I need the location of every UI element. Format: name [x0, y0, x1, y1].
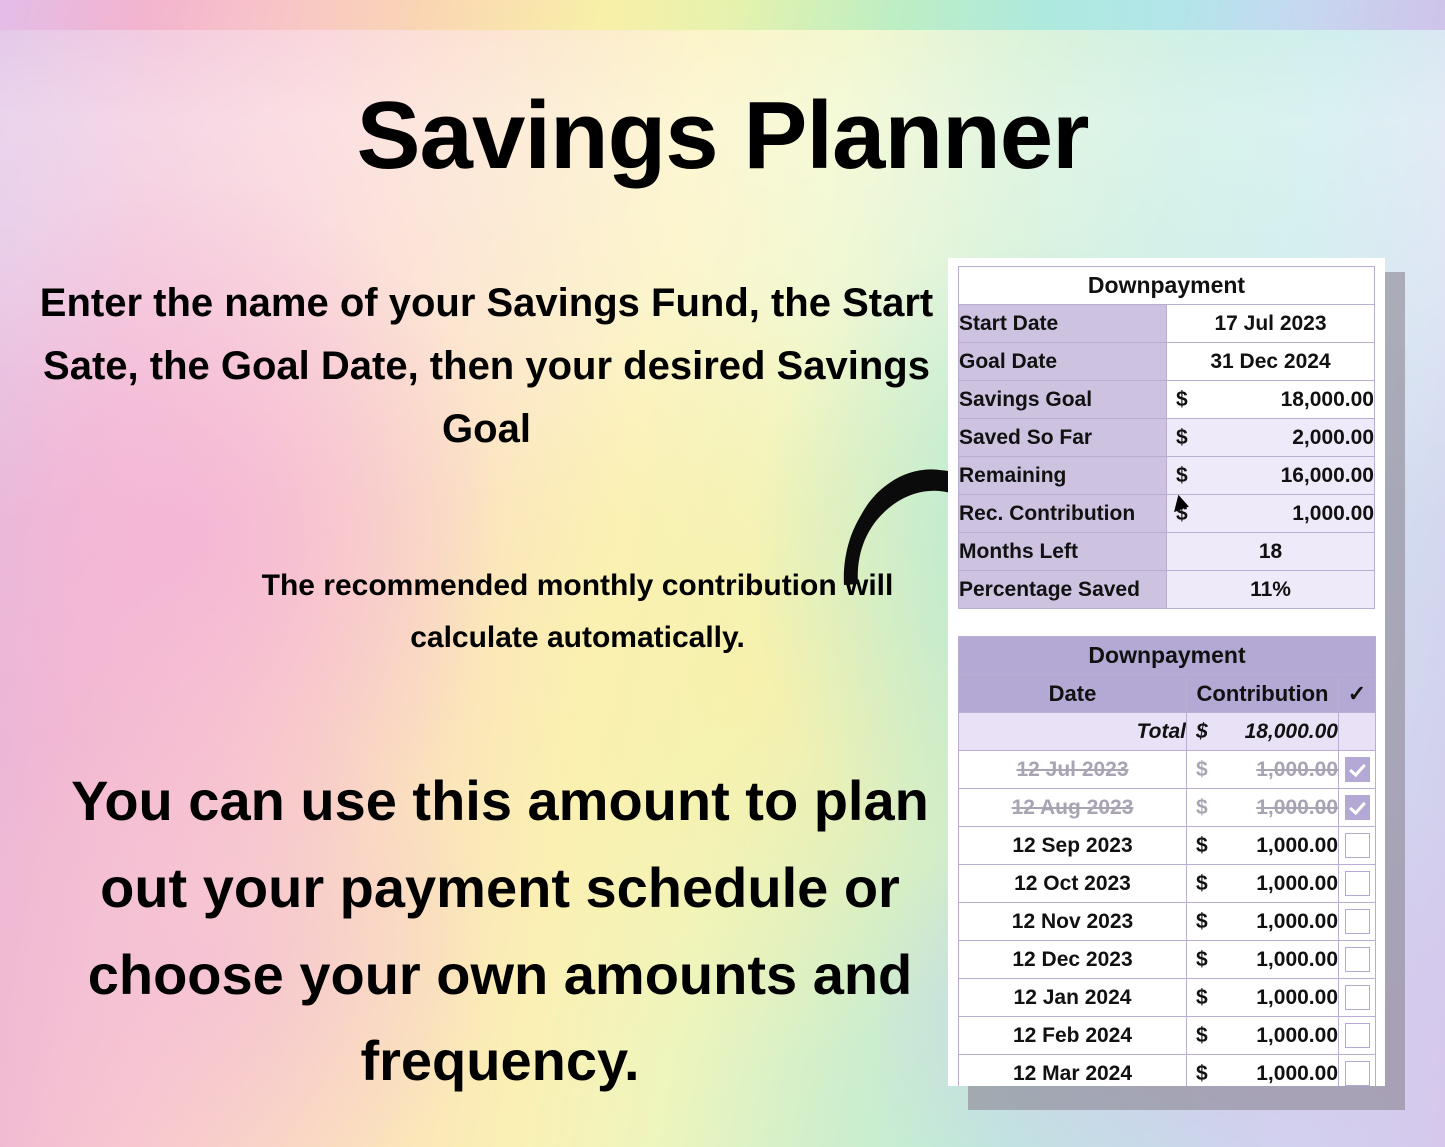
- column-header-contribution: Contribution: [1187, 675, 1339, 713]
- row-date[interactable]: 12 Mar 2024: [959, 1055, 1187, 1087]
- table-row: 12 Aug 2023 $1,000.00: [959, 789, 1376, 827]
- row-contribution-cell[interactable]: $1,000.00: [1187, 751, 1339, 789]
- fund-name-row: Downpayment: [959, 267, 1375, 305]
- row-amount: 1,000.00: [1256, 834, 1338, 857]
- currency-symbol: $: [1187, 1024, 1208, 1048]
- value-rec-contribution: 1,000.00: [1292, 502, 1374, 525]
- table-row: Goal Date 31 Dec 2024: [959, 343, 1375, 381]
- table-row: Percentage Saved 11%: [959, 571, 1375, 609]
- value-remaining-cell: $16,000.00: [1167, 457, 1375, 495]
- value-percentage-saved: 11%: [1167, 571, 1375, 609]
- table-row: Savings Goal $18,000.00: [959, 381, 1375, 419]
- row-date[interactable]: 12 Aug 2023: [959, 789, 1187, 827]
- checkbox-unchecked[interactable]: [1345, 1023, 1370, 1048]
- checkbox-unchecked[interactable]: [1345, 909, 1370, 934]
- checkbox-checked[interactable]: [1345, 757, 1370, 782]
- row-amount: 1,000.00: [1256, 1024, 1338, 1047]
- row-amount: 1,000.00: [1256, 1062, 1338, 1085]
- table-row: Rec. Contribution $1,000.00: [959, 495, 1375, 533]
- currency-symbol: $: [1187, 796, 1208, 820]
- spreadsheet-panel: Downpayment Start Date 17 Jul 2023 Goal …: [948, 258, 1385, 1086]
- table-row: Saved So Far $2,000.00: [959, 419, 1375, 457]
- instruction-text-plan-schedule: You can use this amount to plan out your…: [30, 758, 970, 1105]
- value-months-left: 18: [1167, 533, 1375, 571]
- value-saved-so-far-cell: $2,000.00: [1167, 419, 1375, 457]
- label-goal-date: Goal Date: [959, 343, 1167, 381]
- row-amount: 1,000.00: [1256, 910, 1338, 933]
- row-checkbox-cell[interactable]: [1339, 903, 1376, 941]
- total-value-cell: $18,000.00: [1187, 713, 1339, 751]
- value-start-date[interactable]: 17 Jul 2023: [1167, 305, 1375, 343]
- checkbox-unchecked[interactable]: [1345, 985, 1370, 1010]
- checkbox-unchecked[interactable]: [1345, 947, 1370, 972]
- row-checkbox-cell[interactable]: [1339, 789, 1376, 827]
- checkbox-unchecked[interactable]: [1345, 871, 1370, 896]
- schedule-header-row: Date Contribution ✓: [959, 675, 1376, 713]
- row-checkbox-cell[interactable]: [1339, 941, 1376, 979]
- row-date[interactable]: 12 Nov 2023: [959, 903, 1187, 941]
- fund-name-input[interactable]: Downpayment: [959, 267, 1375, 305]
- column-header-date: Date: [959, 675, 1187, 713]
- schedule-title-row: Downpayment: [959, 637, 1376, 675]
- value-savings-goal-cell[interactable]: $18,000.00: [1167, 381, 1375, 419]
- checkbox-checked[interactable]: [1345, 795, 1370, 820]
- row-contribution-cell[interactable]: $1,000.00: [1187, 1055, 1339, 1087]
- row-date[interactable]: 12 Feb 2024: [959, 1017, 1187, 1055]
- instruction-text-enter-fund-details: Enter the name of your Savings Fund, the…: [14, 272, 959, 462]
- table-row: Months Left 18: [959, 533, 1375, 571]
- label-rec-contribution: Rec. Contribution: [959, 495, 1167, 533]
- label-start-date: Start Date: [959, 305, 1167, 343]
- table-row: 12 Oct 2023 $1,000.00: [959, 865, 1376, 903]
- column-header-check-icon: ✓: [1339, 675, 1376, 713]
- row-checkbox-cell[interactable]: [1339, 751, 1376, 789]
- table-row: 12 Sep 2023 $1,000.00: [959, 827, 1376, 865]
- value-rec-contribution-cell: $1,000.00: [1167, 495, 1375, 533]
- contribution-schedule-table: Downpayment Date Contribution ✓ Total $1…: [958, 636, 1376, 1086]
- row-amount: 1,000.00: [1256, 758, 1338, 781]
- row-checkbox-cell[interactable]: [1339, 827, 1376, 865]
- row-contribution-cell[interactable]: $1,000.00: [1187, 865, 1339, 903]
- row-date[interactable]: 12 Jan 2024: [959, 979, 1187, 1017]
- page-title: Savings Planner: [0, 88, 1445, 184]
- table-row: Remaining $16,000.00: [959, 457, 1375, 495]
- checkbox-unchecked[interactable]: [1345, 1061, 1370, 1086]
- currency-symbol: $: [1187, 948, 1208, 972]
- value-remaining: 16,000.00: [1281, 464, 1374, 487]
- table-row: 12 Jul 2023 $1,000.00: [959, 751, 1376, 789]
- row-contribution-cell[interactable]: $1,000.00: [1187, 1017, 1339, 1055]
- currency-symbol: $: [1187, 910, 1208, 934]
- table-row: 12 Feb 2024 $1,000.00: [959, 1017, 1376, 1055]
- table-row: 12 Jan 2024 $1,000.00: [959, 979, 1376, 1017]
- row-date[interactable]: 12 Sep 2023: [959, 827, 1187, 865]
- value-saved-so-far: 2,000.00: [1292, 426, 1374, 449]
- currency-symbol: $: [1187, 872, 1208, 896]
- value-goal-date[interactable]: 31 Dec 2024: [1167, 343, 1375, 381]
- label-savings-goal: Savings Goal: [959, 381, 1167, 419]
- row-date[interactable]: 12 Oct 2023: [959, 865, 1187, 903]
- total-value: 18,000.00: [1245, 720, 1338, 743]
- currency-symbol: $: [1187, 758, 1208, 782]
- row-contribution-cell[interactable]: $1,000.00: [1187, 979, 1339, 1017]
- schedule-fund-name: Downpayment: [959, 637, 1376, 675]
- currency-symbol: $: [1187, 986, 1208, 1010]
- label-percentage-saved: Percentage Saved: [959, 571, 1167, 609]
- row-contribution-cell[interactable]: $1,000.00: [1187, 827, 1339, 865]
- table-row: Start Date 17 Jul 2023: [959, 305, 1375, 343]
- label-saved-so-far: Saved So Far: [959, 419, 1167, 457]
- row-checkbox-cell[interactable]: [1339, 865, 1376, 903]
- row-checkbox-cell[interactable]: [1339, 1017, 1376, 1055]
- checkbox-unchecked[interactable]: [1345, 833, 1370, 858]
- currency-symbol: $: [1167, 464, 1188, 488]
- table-row: 12 Mar 2024 $1,000.00: [959, 1055, 1376, 1087]
- savings-summary-table: Downpayment Start Date 17 Jul 2023 Goal …: [958, 266, 1375, 609]
- row-checkbox-cell[interactable]: [1339, 979, 1376, 1017]
- schedule-total-row: Total $18,000.00: [959, 713, 1376, 751]
- row-date[interactable]: 12 Jul 2023: [959, 751, 1187, 789]
- row-amount: 1,000.00: [1256, 796, 1338, 819]
- table-row: 12 Dec 2023 $1,000.00: [959, 941, 1376, 979]
- row-checkbox-cell[interactable]: [1339, 1055, 1376, 1087]
- currency-symbol: $: [1187, 720, 1208, 744]
- row-contribution-cell[interactable]: $1,000.00: [1187, 903, 1339, 941]
- background-top-rainbow-band: [0, 0, 1445, 30]
- label-remaining: Remaining: [959, 457, 1167, 495]
- table-row: 12 Nov 2023 $1,000.00: [959, 903, 1376, 941]
- total-label: Total: [959, 713, 1187, 751]
- label-months-left: Months Left: [959, 533, 1167, 571]
- row-amount: 1,000.00: [1256, 872, 1338, 895]
- row-amount: 1,000.00: [1256, 948, 1338, 971]
- currency-symbol: $: [1187, 834, 1208, 858]
- row-date[interactable]: 12 Dec 2023: [959, 941, 1187, 979]
- row-amount: 1,000.00: [1256, 986, 1338, 1009]
- row-contribution-cell[interactable]: $1,000.00: [1187, 789, 1339, 827]
- currency-symbol: $: [1167, 388, 1188, 412]
- currency-symbol: $: [1187, 1062, 1208, 1086]
- value-savings-goal: 18,000.00: [1281, 388, 1374, 411]
- total-check-cell: [1339, 713, 1376, 751]
- currency-symbol: $: [1167, 426, 1188, 450]
- row-contribution-cell[interactable]: $1,000.00: [1187, 941, 1339, 979]
